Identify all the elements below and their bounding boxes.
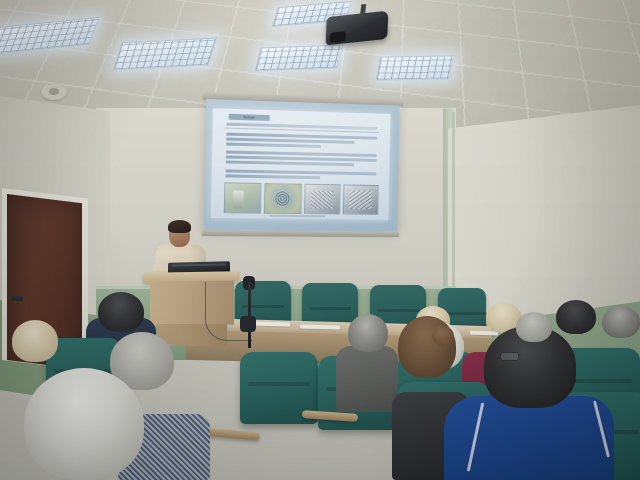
projected-slide: Выводы [211, 108, 391, 220]
projector-lens [330, 31, 346, 43]
projector-mount [360, 4, 366, 16]
slide-photo-spiral-specimen [264, 183, 301, 214]
slide-footer-bar [270, 215, 325, 218]
presenter-hair [168, 220, 191, 233]
slide-photo-lab-equipment [224, 182, 262, 213]
slide-paragraph-2 [226, 151, 377, 169]
attendee-grey-jacket-center [336, 346, 398, 412]
slide-paragraph-1 [226, 133, 377, 152]
attendee-braided-hair [398, 316, 456, 378]
attendee-white-hair-front-left [24, 368, 144, 480]
attendee-blond-left [12, 320, 58, 362]
attendee-grey-back-right [602, 306, 640, 338]
cable [205, 282, 252, 341]
slide-text-line [226, 160, 355, 165]
projection-screen: Выводы [204, 99, 400, 231]
microphone-stand [248, 282, 251, 348]
microphone-base-box [240, 316, 256, 332]
slide-photo-micrograph-2 [343, 184, 379, 215]
slide-title: Выводы [229, 114, 270, 121]
smoke-detector-icon [41, 84, 67, 100]
attendee-dark-hair-back-right [556, 300, 596, 334]
attendee-glasses-right [516, 312, 552, 342]
screen-weight-bar [202, 230, 400, 237]
slide-text-line [226, 174, 321, 178]
attendee-hair-bun [432, 326, 454, 346]
slide-paragraph-3 [225, 169, 376, 182]
slide-text-line [226, 143, 321, 148]
ceiling-light-panel-2 [113, 38, 217, 71]
attendee-grey-jacket-head [348, 314, 388, 352]
slide-image-row [224, 182, 379, 215]
ceiling-light-panel-3 [255, 45, 344, 72]
eyeglasses [500, 352, 519, 361]
attendee-navy-shirt-head [98, 292, 144, 332]
screen-surface: Выводы [204, 99, 400, 231]
ceiling-light-panel-4 [376, 55, 455, 80]
conference-hall-photo: Выводы [0, 0, 640, 480]
slide-photo-micrograph-1 [304, 184, 341, 215]
